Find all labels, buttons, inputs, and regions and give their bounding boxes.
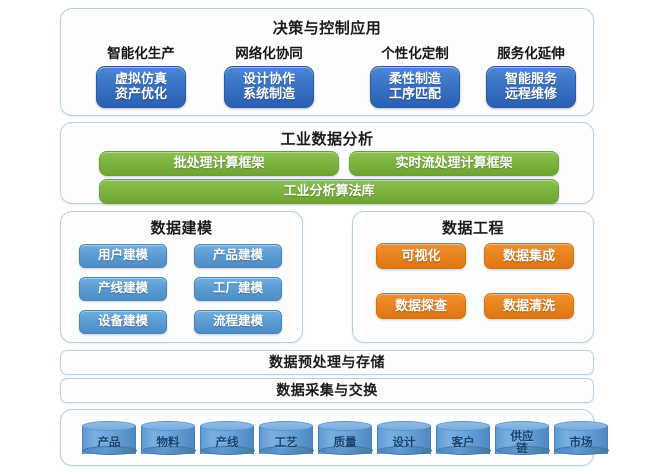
application-chip-line1: 智能服务 <box>487 71 575 87</box>
modeling-chip-line[interactable]: 产线建模 <box>79 277 167 301</box>
application-chip-line2: 远程维修 <box>487 86 575 102</box>
application-column-intelligent-production: 智能化生产 虚拟仿真 资产优化 <box>83 47 199 108</box>
engineering-chip-data-cleaning[interactable]: 数据清洗 <box>484 293 574 319</box>
data-source-label: 设计 <box>377 430 431 456</box>
data-source-cylinder-product[interactable]: 产品 <box>82 421 136 457</box>
application-chip-line2: 系统制造 <box>225 86 313 102</box>
modeling-chip-equipment[interactable]: 设备建模 <box>79 310 167 334</box>
modeling-chip-product[interactable]: 产品建模 <box>194 244 282 268</box>
collect-exchange-bar: 数据采集与交换 <box>60 378 594 403</box>
architecture-diagram: 决策与控制应用 智能化生产 虚拟仿真 资产优化 网络化协同 设计协作 系统制造 … <box>0 0 653 474</box>
application-chip-virtual-simulation[interactable]: 虚拟仿真 资产优化 <box>96 66 186 109</box>
data-source-cylinder-customer[interactable]: 客户 <box>436 421 490 457</box>
applications-panel: 决策与控制应用 智能化生产 虚拟仿真 资产优化 网络化协同 设计协作 系统制造 … <box>60 8 594 116</box>
application-column-service-extension: 服务化延伸 智能服务 远程维修 <box>473 47 589 108</box>
data-source-cylinder-design[interactable]: 设计 <box>377 421 431 457</box>
data-source-label: 客户 <box>436 430 490 456</box>
data-source-label: 物料 <box>141 430 195 456</box>
data-source-cylinder-supply-chain[interactable]: 供应链 <box>495 421 549 457</box>
data-source-label: 产线 <box>200 430 254 456</box>
application-column-label: 智能化生产 <box>83 47 199 61</box>
data-source-label: 供应链 <box>495 430 549 456</box>
data-source-label: 质量 <box>318 430 372 456</box>
application-column-label: 服务化延伸 <box>473 47 589 61</box>
analysis-chip-stream-framework[interactable]: 实时流处理计算框架 <box>349 151 559 176</box>
application-chip-line1: 设计协作 <box>225 71 313 87</box>
application-column-personalized-customization: 个性化定制 柔性制造 工序匹配 <box>357 47 473 108</box>
data-source-label: 工艺 <box>259 430 313 456</box>
engineering-chip-visualization[interactable]: 可视化 <box>376 243 466 269</box>
application-chip-line2: 资产优化 <box>97 86 185 102</box>
analysis-chip-algorithm-library[interactable]: 工业分析算法库 <box>99 179 559 204</box>
modeling-panel: 数据建模 用户建模 产品建模 产线建模 工厂建模 设备建模 流程建模 <box>60 211 303 343</box>
engineering-chip-data-exploration[interactable]: 数据探查 <box>376 293 466 319</box>
preprocess-storage-bar: 数据预处理与存储 <box>60 350 594 375</box>
data-source-cylinder-production-line[interactable]: 产线 <box>200 421 254 457</box>
engineering-panel: 数据工程 可视化 数据集成 数据探查 数据清洗 <box>352 211 594 343</box>
application-chip-line1: 柔性制造 <box>371 71 459 87</box>
application-column-label: 个性化定制 <box>357 47 473 61</box>
data-sources-panel: 产品 物料 产线 工艺 质量 设计 客户 <box>60 409 594 466</box>
application-column-label: 网络化协同 <box>211 47 327 61</box>
application-chip-flexible-manufacturing[interactable]: 柔性制造 工序匹配 <box>370 66 460 109</box>
application-chip-design-collaboration[interactable]: 设计协作 系统制造 <box>224 66 314 109</box>
data-source-cylinder-quality[interactable]: 质量 <box>318 421 372 457</box>
engineering-panel-title: 数据工程 <box>353 221 593 236</box>
analysis-panel-title: 工业数据分析 <box>61 132 593 147</box>
modeling-chip-user[interactable]: 用户建模 <box>79 244 167 268</box>
modeling-chip-process[interactable]: 流程建模 <box>194 310 282 334</box>
applications-panel-title: 决策与控制应用 <box>61 21 593 36</box>
analysis-panel: 工业数据分析 批处理计算框架 实时流处理计算框架 工业分析算法库 <box>60 122 594 204</box>
preprocess-storage-label: 数据预处理与存储 <box>61 351 593 374</box>
analysis-chip-batch-framework[interactable]: 批处理计算框架 <box>99 151 339 176</box>
application-chip-line2: 工序匹配 <box>371 86 459 102</box>
data-source-label: 市场 <box>554 430 608 456</box>
data-source-cylinder-process[interactable]: 工艺 <box>259 421 313 457</box>
application-column-networked-collaboration: 网络化协同 设计协作 系统制造 <box>211 47 327 108</box>
data-source-cylinder-market[interactable]: 市场 <box>554 421 608 457</box>
engineering-chip-data-integration[interactable]: 数据集成 <box>484 243 574 269</box>
collect-exchange-label: 数据采集与交换 <box>61 379 593 402</box>
modeling-panel-title: 数据建模 <box>61 221 302 236</box>
data-source-label: 产品 <box>82 430 136 456</box>
data-source-cylinder-material[interactable]: 物料 <box>141 421 195 457</box>
application-chip-smart-service[interactable]: 智能服务 远程维修 <box>486 66 576 109</box>
modeling-chip-factory[interactable]: 工厂建模 <box>194 277 282 301</box>
application-chip-line1: 虚拟仿真 <box>97 71 185 87</box>
